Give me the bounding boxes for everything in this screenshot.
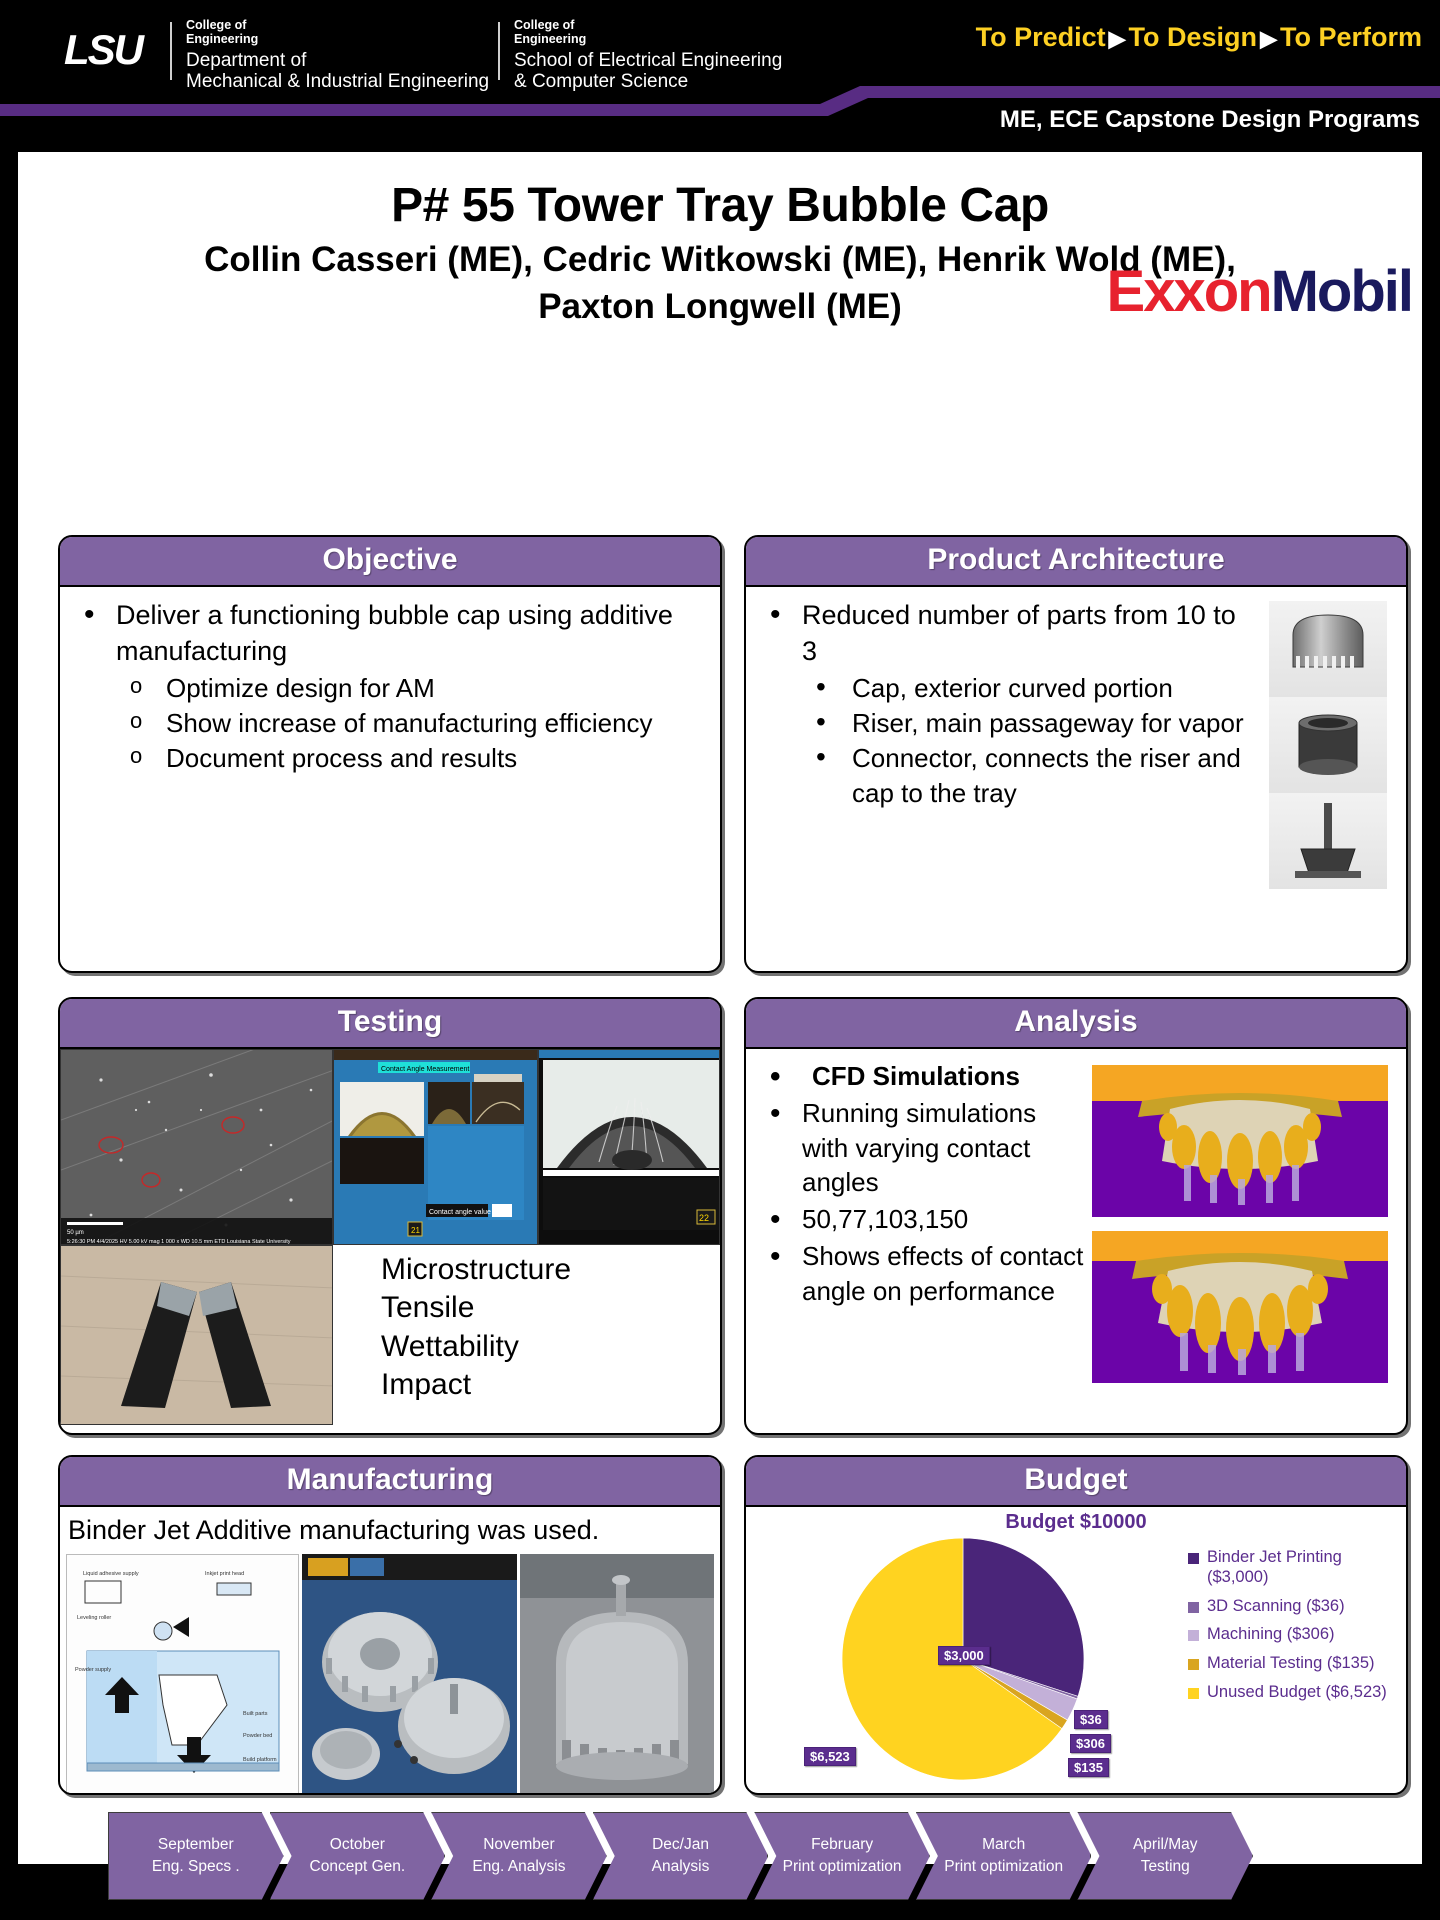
svg-text:Built parts: Built parts [243, 1711, 268, 1717]
legend-label-unused-budget: Unused Budget ($6,523) [1207, 1683, 1387, 1703]
legend-swatch-machining [1188, 1630, 1199, 1641]
header-divider-2 [498, 22, 500, 80]
poster-sheet: P# 55 Tower Tray Bubble Cap Collin Casse… [18, 152, 1422, 1864]
legend-swatch-3d-scanning [1188, 1602, 1199, 1613]
product-architecture-images [1264, 597, 1392, 889]
pie-label-material-testing: $135 [1068, 1758, 1109, 1777]
list-item: Optimize design for AM [122, 671, 706, 706]
svg-text:Inkjet print head: Inkjet print head [205, 1571, 244, 1577]
budget-chart-area: $3,000 $36 $306 $135 $6,523 Binder Jet P… [752, 1534, 1400, 1786]
timeline-month: October [330, 1834, 385, 1856]
bubble-cap-part-photo [1269, 601, 1387, 697]
panel-analysis-body: CFD Simulations Running simulations with… [746, 1049, 1406, 1407]
testing-image-row-1: 50 µm 5:26:30 PM 4/4/2025 HV 5.00 kV mag… [60, 1049, 720, 1245]
svg-text:Liquid adhesive supply: Liquid adhesive supply [83, 1571, 139, 1577]
header-tagline: To Predict▶To Design▶To Perform [976, 22, 1422, 53]
timeline-task: Analysis [652, 1856, 710, 1878]
tagline-part-1: To Predict [976, 22, 1106, 52]
dept-me-engineering: Engineering [186, 32, 489, 46]
list-item: Connector, connects the riser and cap to… [808, 741, 1258, 811]
analysis-bullet-list: CFD Simulations Running simulations with… [760, 1059, 1088, 1309]
testing-label-wettability: Wettability [381, 1328, 720, 1366]
poster-root: LSU College of Engineering Department of… [0, 0, 1440, 1920]
impact-specimen-photo [60, 1245, 333, 1425]
budget-chart-title: Budget $10000 [752, 1511, 1400, 1534]
svg-text:50 µm: 50 µm [67, 1230, 84, 1236]
binder-jet-process-diagram: Liquid adhesive supply Inkjet print head… [66, 1554, 299, 1795]
timeline-month: Dec/Jan [652, 1834, 709, 1856]
panel-budget-heading: Budget [746, 1457, 1406, 1507]
tagline-arrow-icon-1: ▶ [1106, 26, 1129, 51]
testing-label-microstructure: Microstructure [381, 1251, 720, 1289]
svg-text:21: 21 [411, 1226, 420, 1235]
dept-ece-block: College of Engineering School of Electri… [514, 18, 782, 93]
legend-item: Material Testing ($135) [1188, 1654, 1400, 1674]
timeline-task: Print optimization [783, 1856, 902, 1878]
legend-label-material-testing: Material Testing ($135) [1207, 1654, 1375, 1674]
pie-label-machining: $306 [1070, 1734, 1111, 1753]
legend-swatch-binder-jet [1188, 1553, 1199, 1564]
pie-label-3d-scanning: $36 [1074, 1710, 1108, 1729]
panel-objective-body: Deliver a functioning bubble cap using a… [60, 587, 720, 786]
list-item: Running simulations with varying contact… [760, 1096, 1088, 1200]
testing-image-row-2: Microstructure Tensile Wettability Impac… [60, 1245, 720, 1425]
svg-text:Leveling roller: Leveling roller [77, 1615, 111, 1621]
timeline-task: Print optimization [944, 1856, 1063, 1878]
panel-manufacturing-body: Binder Jet Additive manufacturing was us… [60, 1507, 720, 1795]
panel-objective: Objective Deliver a functioning bubble c… [58, 535, 722, 973]
title-block: P# 55 Tower Tray Bubble Cap Collin Casse… [18, 152, 1422, 328]
panel-product-architecture-body: Reduced number of parts from 10 to 3 Cap… [746, 587, 1406, 899]
panel-manufacturing-heading: Manufacturing [60, 1457, 720, 1507]
panel-analysis: Analysis CFD Simulations Running simulat… [744, 997, 1408, 1435]
analysis-text: CFD Simulations Running simulations with… [760, 1059, 1088, 1397]
svg-text:Build platform: Build platform [243, 1757, 277, 1763]
list-item: Reduced number of parts from 10 to 3 [760, 597, 1258, 669]
manufacturing-note: Binder Jet Additive manufacturing was us… [66, 1511, 714, 1554]
objective-sub-list: Optimize design for AM Show increase of … [122, 671, 706, 775]
legend-item: Machining ($306) [1188, 1625, 1400, 1645]
tagline-arrow-icon-2: ▶ [1257, 26, 1280, 51]
timeline-month: November [483, 1834, 555, 1856]
analysis-images [1092, 1059, 1392, 1397]
connector-part-photo [1269, 793, 1387, 889]
svg-text:Powder bed: Powder bed [243, 1733, 272, 1739]
panel-product-architecture: Product Architecture Reduced number of p… [744, 535, 1408, 973]
contact-angle-measurement-screen: Contact Angle Measurement Contact angle … [333, 1049, 538, 1245]
list-item: Riser, main passageway for vapor [808, 706, 1258, 741]
dept-me-line1: Department of [186, 50, 489, 71]
budget-pie-container: $3,000 $36 $306 $135 $6,523 [752, 1534, 1188, 1786]
timeline-step: October Concept Gen. [270, 1812, 446, 1900]
cfd-simulation-render-2 [1092, 1231, 1388, 1383]
dept-ece-engineering: Engineering [514, 32, 782, 46]
exxon-logo-e: E [1107, 259, 1144, 324]
pie-label-unused-budget: $6,523 [804, 1747, 856, 1766]
exxon-logo-x2: x [1173, 259, 1203, 324]
pa-bullet-list: Reduced number of parts from 10 to 3 [760, 597, 1258, 669]
riser-part-photo [1269, 697, 1387, 793]
pie-label-binder-jet: $3,000 [938, 1646, 990, 1665]
bubble-cap-finished-photo [520, 1554, 714, 1795]
printed-parts-photo [302, 1554, 517, 1795]
lsu-logo: LSU [48, 24, 158, 76]
exxon-logo-x1: x [1143, 259, 1173, 324]
panel-analysis-heading: Analysis [746, 999, 1406, 1049]
timeline-step: April/May Testing [1077, 1812, 1253, 1900]
timeline-task: Concept Gen. [310, 1856, 406, 1878]
legend-item: 3D Scanning ($36) [1188, 1597, 1400, 1617]
list-item: Cap, exterior curved portion [808, 671, 1258, 706]
svg-text:Contact angle value: Contact angle value [429, 1209, 491, 1216]
cfd-simulation-render-1 [1092, 1065, 1388, 1217]
testing-label-list: Microstructure Tensile Wettability Impac… [333, 1245, 720, 1425]
legend-swatch-unused-budget [1188, 1688, 1199, 1699]
exxon-logo-mobil: Mobil [1271, 259, 1412, 324]
tagline-part-2: To Design [1129, 22, 1258, 52]
list-item: CFD Simulations [760, 1059, 1088, 1094]
list-item: Show increase of manufacturing efficienc… [122, 706, 706, 741]
capstone-program-label: ME, ECE Capstone Design Programs [1000, 106, 1420, 134]
dept-ece-line1: School of Electrical Engineering [514, 50, 782, 71]
list-item: Document process and results [122, 741, 706, 776]
timeline-month: February [811, 1834, 873, 1856]
timeline-month: September [158, 1834, 234, 1856]
contact-angle-droplet-image: 22 [538, 1049, 720, 1245]
panel-manufacturing: Manufacturing Binder Jet Additive manufa… [58, 1455, 722, 1795]
header-divider-1 [170, 22, 172, 80]
testing-label-impact: Impact [381, 1366, 720, 1404]
tagline-part-3: To Perform [1280, 22, 1422, 52]
legend-label-machining: Machining ($306) [1207, 1625, 1335, 1645]
timeline-month: April/May [1133, 1834, 1198, 1856]
product-architecture-text: Reduced number of parts from 10 to 3 Cap… [760, 597, 1258, 889]
dept-me-college: College of [186, 18, 489, 32]
legend-label-3d-scanning: 3D Scanning ($36) [1207, 1597, 1345, 1617]
svg-text:22: 22 [699, 1213, 709, 1223]
objective-bullet-list: Deliver a functioning bubble cap using a… [74, 597, 706, 669]
project-timeline: September Eng. Specs . October Concept G… [108, 1812, 1253, 1900]
list-item: 50,77,103,150 [760, 1202, 1088, 1237]
timeline-step: September Eng. Specs . [108, 1812, 284, 1900]
panel-objective-heading: Objective [60, 537, 720, 587]
panel-testing: Testing [58, 997, 722, 1435]
panel-budget-body: Budget $10000 $3,000 $36 $306 $135 $6,52… [746, 1507, 1406, 1788]
timeline-step: November Eng. Analysis [431, 1812, 607, 1900]
panel-product-architecture-heading: Product Architecture [746, 537, 1406, 587]
dept-me-block: College of Engineering Department of Mec… [186, 18, 489, 93]
legend-swatch-material-testing [1188, 1659, 1199, 1670]
page-title: P# 55 Tower Tray Bubble Cap [18, 178, 1422, 233]
panel-testing-heading: Testing [60, 999, 720, 1049]
list-item: Deliver a functioning bubble cap using a… [74, 597, 706, 669]
legend-label-binder-jet: Binder Jet Printing ($3,000) [1207, 1548, 1400, 1588]
timeline-step: Dec/Jan Analysis [593, 1812, 769, 1900]
manufacturing-images: Liquid adhesive supply Inkjet print head… [66, 1554, 714, 1795]
timeline-task: Eng. Analysis [472, 1856, 565, 1878]
exxonmobil-logo: ExxonMobil [1107, 258, 1412, 325]
timeline-task: Testing [1141, 1856, 1190, 1878]
svg-text:Contact Angle Measurement: Contact Angle Measurement [381, 1066, 469, 1073]
pa-sub-list: Cap, exterior curved portion Riser, main… [808, 671, 1258, 810]
timeline-task: Eng. Specs . [152, 1856, 240, 1878]
legend-item: Binder Jet Printing ($3,000) [1188, 1548, 1400, 1588]
dept-ece-college: College of [514, 18, 782, 32]
legend-item: Unused Budget ($6,523) [1188, 1683, 1400, 1703]
budget-legend: Binder Jet Printing ($3,000) 3D Scanning… [1188, 1534, 1400, 1786]
testing-label-tensile: Tensile [381, 1289, 720, 1327]
timeline-step: February Print optimization [754, 1812, 930, 1900]
panel-budget: Budget Budget $10000 $3,000 $36 $306 $13… [744, 1455, 1408, 1795]
svg-text:Powder supply: Powder supply [75, 1667, 111, 1673]
exxon-logo-on: on [1204, 259, 1271, 324]
sem-microstructure-image: 50 µm 5:26:30 PM 4/4/2025 HV 5.00 kV mag… [60, 1049, 333, 1245]
list-item: Shows effects of contact angle on perfor… [760, 1239, 1088, 1309]
timeline-month: March [982, 1834, 1025, 1856]
timeline-step: March Print optimization [916, 1812, 1092, 1900]
